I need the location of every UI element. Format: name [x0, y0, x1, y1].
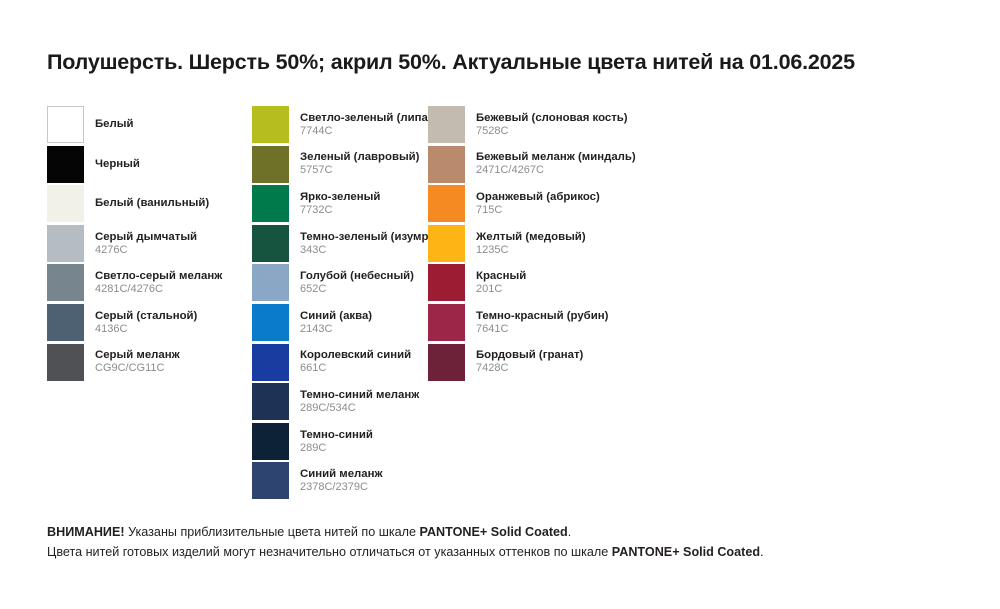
disclaimer-line-2: Цвета нитей готовых изделий могут незнач… [47, 543, 764, 563]
color-swatch [428, 106, 465, 143]
swatch-labels: Серый меланжCG9C/CG11C [95, 344, 180, 381]
color-name: Желтый (медовый) [476, 230, 586, 244]
swatch-labels: Темно-зеленый (изумруд)343C [300, 225, 445, 262]
color-name: Ярко-зеленый [300, 190, 380, 204]
color-name: Белый (ванильный) [95, 196, 209, 211]
color-name: Темно-зеленый (изумруд) [300, 230, 445, 244]
swatch-labels: Белый [95, 106, 134, 143]
pantone-code: 5757C [300, 164, 419, 178]
color-name: Бежевый (слоновая кость) [476, 111, 628, 125]
swatch-labels: Темно-синий289C [300, 423, 373, 460]
color-swatch [428, 146, 465, 183]
color-swatch [47, 344, 84, 381]
pantone-code: 343C [300, 244, 445, 258]
pantone-code: 4276C [95, 244, 197, 258]
swatch-labels: Серый (стальной)4136C [95, 304, 197, 341]
pantone-code: 2143C [300, 323, 372, 337]
color-name: Светло-зеленый (липа) [300, 111, 432, 125]
swatch-labels: Ярко-зеленый7732C [300, 185, 380, 222]
color-swatch [252, 304, 289, 341]
color-swatch [252, 344, 289, 381]
pantone-code: 201C [476, 283, 526, 297]
pantone-code: 1235C [476, 244, 586, 258]
color-swatch [252, 146, 289, 183]
swatch-labels: Серый дымчатый4276C [95, 225, 197, 262]
pantone-code: 715C [476, 204, 600, 218]
color-name: Синий (аква) [300, 309, 372, 323]
color-swatch [428, 264, 465, 301]
color-swatch [252, 264, 289, 301]
pantone-code: CG9C/CG11C [95, 362, 180, 376]
color-swatch [428, 225, 465, 262]
swatch-labels: Голубой (небесный)652C [300, 264, 414, 301]
swatch-labels: Желтый (медовый)1235C [476, 225, 586, 262]
color-name: Темно-красный (рубин) [476, 309, 608, 323]
pantone-code: 7528C [476, 125, 628, 139]
pantone-code: 4136C [95, 323, 197, 337]
swatch-labels: Королевский синий661C [300, 344, 411, 381]
disclaimer-footer: ВНИМАНИЕ! Указаны приблизительные цвета … [47, 523, 764, 562]
disclaimer-line-2-period: . [760, 545, 764, 559]
swatch-labels: Зеленый (лавровый)5757C [300, 146, 419, 183]
disclaimer-line-1-text: Указаны приблизительные цвета нитей по ш… [125, 525, 420, 539]
pantone-code: 7732C [300, 204, 380, 218]
color-name: Синий меланж [300, 467, 383, 481]
color-swatch [47, 185, 84, 222]
pantone-code: 7428C [476, 362, 583, 376]
pantone-code: 661C [300, 362, 411, 376]
swatch-labels: Оранжевый (абрикос)715C [476, 185, 600, 222]
disclaimer-line-1: ВНИМАНИЕ! Указаны приблизительные цвета … [47, 523, 764, 543]
color-swatch [47, 264, 84, 301]
color-swatch [47, 304, 84, 341]
swatch-labels: Синий (аква)2143C [300, 304, 372, 341]
pantone-code: 2378C/2379C [300, 481, 383, 495]
color-name: Серый дымчатый [95, 230, 197, 244]
pantone-brand-1: PANTONE+ Solid Coated [419, 525, 567, 539]
pantone-brand-2: PANTONE+ Solid Coated [612, 545, 760, 559]
swatch-labels: Бежевый (слоновая кость)7528C [476, 106, 628, 143]
color-name: Оранжевый (абрикос) [476, 190, 600, 204]
swatch-labels: Бордовый (гранат)7428C [476, 344, 583, 381]
page-title: Полушерсть. Шерсть 50%; акрил 50%. Актуа… [47, 50, 855, 75]
color-name: Бордовый (гранат) [476, 348, 583, 362]
swatch-labels: Красный201C [476, 264, 526, 301]
swatch-labels: Темно-синий меланж289C/534C [300, 383, 419, 420]
pantone-code: 652C [300, 283, 414, 297]
disclaimer-line-1-period: . [568, 525, 572, 539]
color-chart-page: Полушерсть. Шерсть 50%; акрил 50%. Актуа… [0, 0, 1000, 609]
pantone-code: 2471C/4267C [476, 164, 636, 178]
swatch-labels: Бежевый меланж (миндаль)2471C/4267C [476, 146, 636, 183]
color-swatch [252, 106, 289, 143]
color-swatch [252, 185, 289, 222]
color-name: Светло-серый меланж [95, 269, 222, 283]
pantone-code: 7641C [476, 323, 608, 337]
pantone-code: 289C [300, 442, 373, 456]
color-name: Красный [476, 269, 526, 283]
color-name: Серый (стальной) [95, 309, 197, 323]
pantone-code: 7744C [300, 125, 432, 139]
pantone-code: 289C/534C [300, 402, 419, 416]
color-swatch [252, 462, 289, 499]
color-swatch [47, 225, 84, 262]
pantone-code: 4281C/4276C [95, 283, 222, 297]
swatch-labels: Черный [95, 146, 140, 183]
swatch-labels: Темно-красный (рубин)7641C [476, 304, 608, 341]
color-swatch [428, 344, 465, 381]
swatch-labels: Синий меланж2378C/2379C [300, 462, 383, 499]
color-swatch [428, 304, 465, 341]
attention-label: ВНИМАНИЕ! [47, 525, 125, 539]
disclaimer-line-2-text: Цвета нитей готовых изделий могут незнач… [47, 545, 612, 559]
color-name: Темно-синий [300, 428, 373, 442]
color-name: Голубой (небесный) [300, 269, 414, 283]
color-swatch [47, 106, 84, 143]
color-name: Бежевый меланж (миндаль) [476, 150, 636, 164]
color-swatch [47, 146, 84, 183]
color-swatch [252, 225, 289, 262]
color-name: Черный [95, 157, 140, 172]
color-name: Королевский синий [300, 348, 411, 362]
color-name: Серый меланж [95, 348, 180, 362]
swatch-labels: Белый (ванильный) [95, 185, 209, 222]
color-name: Темно-синий меланж [300, 388, 419, 402]
color-name: Зеленый (лавровый) [300, 150, 419, 164]
color-name: Белый [95, 117, 134, 132]
swatch-labels: Светло-серый меланж4281C/4276C [95, 264, 222, 301]
color-swatch [428, 185, 465, 222]
color-swatch [252, 423, 289, 460]
color-swatch [252, 383, 289, 420]
swatch-labels: Светло-зеленый (липа)7744C [300, 106, 432, 143]
